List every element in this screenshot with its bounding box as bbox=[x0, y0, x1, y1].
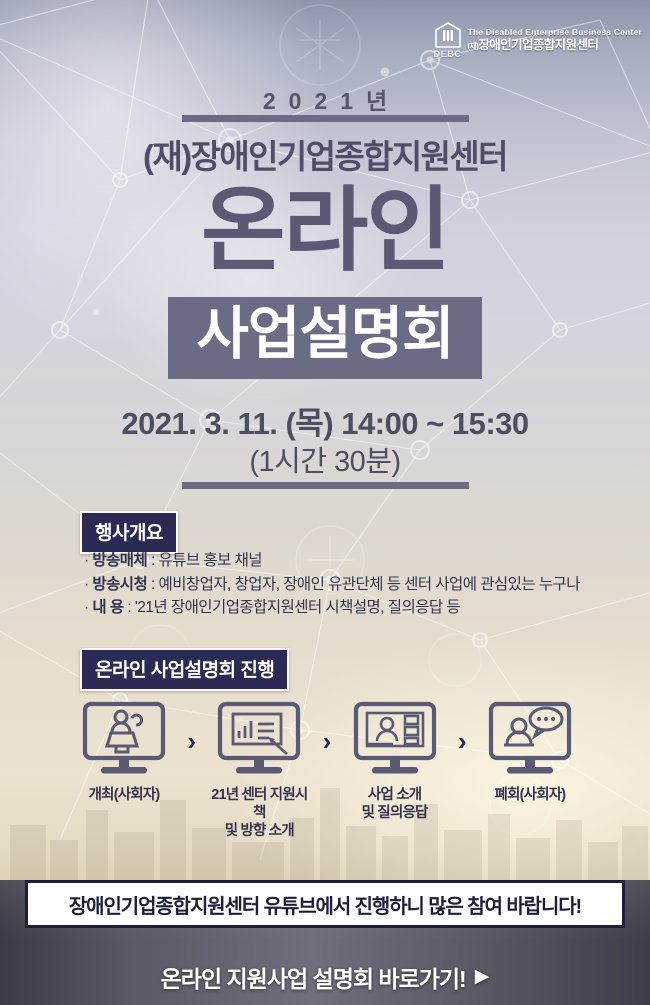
cta-link-button[interactable]: 온라인 지원사업 설명회 바로가기! ▶ bbox=[0, 948, 650, 1005]
process-step-label: 폐회(사회자) bbox=[495, 786, 566, 804]
page-title: 온라인 bbox=[0, 185, 650, 277]
logo-korean-name: (재)장애인기업종합지원센터 bbox=[467, 38, 642, 52]
debc-logo-icon: DEBC bbox=[434, 22, 462, 59]
list-item-value: 예비창업자, 창업자, 장애인 유관단체 등 센터 사업에 관심있는 누구나 bbox=[159, 576, 580, 593]
list-item-value: 유튜브 홍보 채널 bbox=[159, 552, 262, 569]
process-step-label: 개최(사회자) bbox=[89, 786, 160, 804]
process-separator-icon: › bbox=[315, 700, 339, 757]
notice-banner: 장애인기업종합지원센터 유튜브에서 진행하니 많은 참여 바랍니다! bbox=[25, 880, 625, 928]
logo-korean-main: 장애인기업종합지원센터 bbox=[478, 38, 598, 52]
list-item-label: 방송시청 bbox=[92, 576, 147, 593]
play-arrow-icon: ▶ bbox=[475, 965, 490, 988]
podium-presenter-monitor-icon bbox=[76, 700, 172, 778]
logo-korean-prefix: (재) bbox=[467, 42, 478, 51]
process-separator-icon: › bbox=[450, 700, 474, 757]
list-item: · 내 용 : '21년 장애인기업종합지원센터 시책설명, 질의응답 등 bbox=[84, 596, 624, 620]
overview-list: · 방송매체 : 유튜브 홍보 채널 · 방송시청 : 예비창업자, 창업자, … bbox=[84, 549, 624, 620]
event-datetime: 2021. 3. 11. (목) 14:00 ~ 15:30 bbox=[0, 398, 650, 443]
process-step-1: 개최(사회자) bbox=[72, 700, 176, 804]
list-item: · 방송시청 : 예비창업자, 창업자, 장애인 유관단체 등 센터 사업에 관… bbox=[84, 573, 624, 597]
divider-top bbox=[182, 115, 469, 122]
list-item-label: 방송매체 bbox=[92, 552, 147, 569]
process-step-2: 21년 센터 지원시책 및 방향 소개 bbox=[207, 700, 311, 840]
process-step-4: 폐회(사회자) bbox=[478, 700, 582, 804]
year-label: 2021년 bbox=[0, 82, 650, 116]
poster-root: DEBC The Disabled Enterprise Business Ce… bbox=[0, 0, 650, 1005]
video-conference-monitor-icon bbox=[347, 700, 443, 778]
notice-text: 장애인기업종합지원센터 유튜브에서 진행하니 많은 참여 바랍니다! bbox=[69, 890, 581, 919]
person-speech-bubble-monitor-icon bbox=[482, 700, 578, 778]
divider-bottom bbox=[182, 482, 469, 489]
process-step-label: 21년 센터 지원시책 및 방향 소개 bbox=[207, 786, 311, 840]
debc-abbrev: DEBC bbox=[434, 49, 462, 59]
cta-label: 온라인 지원사업 설명회 바로가기! bbox=[161, 960, 466, 994]
process-step-label: 사업 소개 및 질의응답 bbox=[362, 786, 428, 822]
list-item-value: '21년 장애인기업종합지원센터 시책설명, 질의응답 등 bbox=[135, 599, 460, 616]
page-subtitle: 사업설명회 bbox=[168, 297, 481, 379]
debc-logo: DEBC The Disabled Enterprise Business Ce… bbox=[434, 22, 642, 59]
event-duration: (1시간 30분) bbox=[0, 438, 650, 480]
logo-english-name: The Disabled Enterprise Business Center bbox=[467, 28, 642, 38]
process-step-3: 사업 소개 및 질의응답 bbox=[343, 700, 447, 822]
presentation-board-chart-monitor-icon bbox=[211, 700, 307, 778]
process-separator-icon: › bbox=[180, 700, 204, 757]
section-heading-process: 온라인 사업설명회 진행 bbox=[80, 648, 289, 691]
section-heading-overview: 행사개요 bbox=[80, 511, 178, 554]
list-item-label: 내 용 bbox=[92, 599, 123, 616]
list-item: · 방송매체 : 유튜브 홍보 채널 bbox=[84, 549, 624, 573]
process-flow: 개최(사회자) › 21년 센터 지원시책 및 bbox=[72, 700, 582, 840]
subtitle-wrapper: 사업설명회 bbox=[0, 297, 650, 379]
organization-name: (재)장애인기업종합지원센터 bbox=[0, 130, 650, 178]
logo-text-block: The Disabled Enterprise Business Center … bbox=[467, 28, 642, 52]
